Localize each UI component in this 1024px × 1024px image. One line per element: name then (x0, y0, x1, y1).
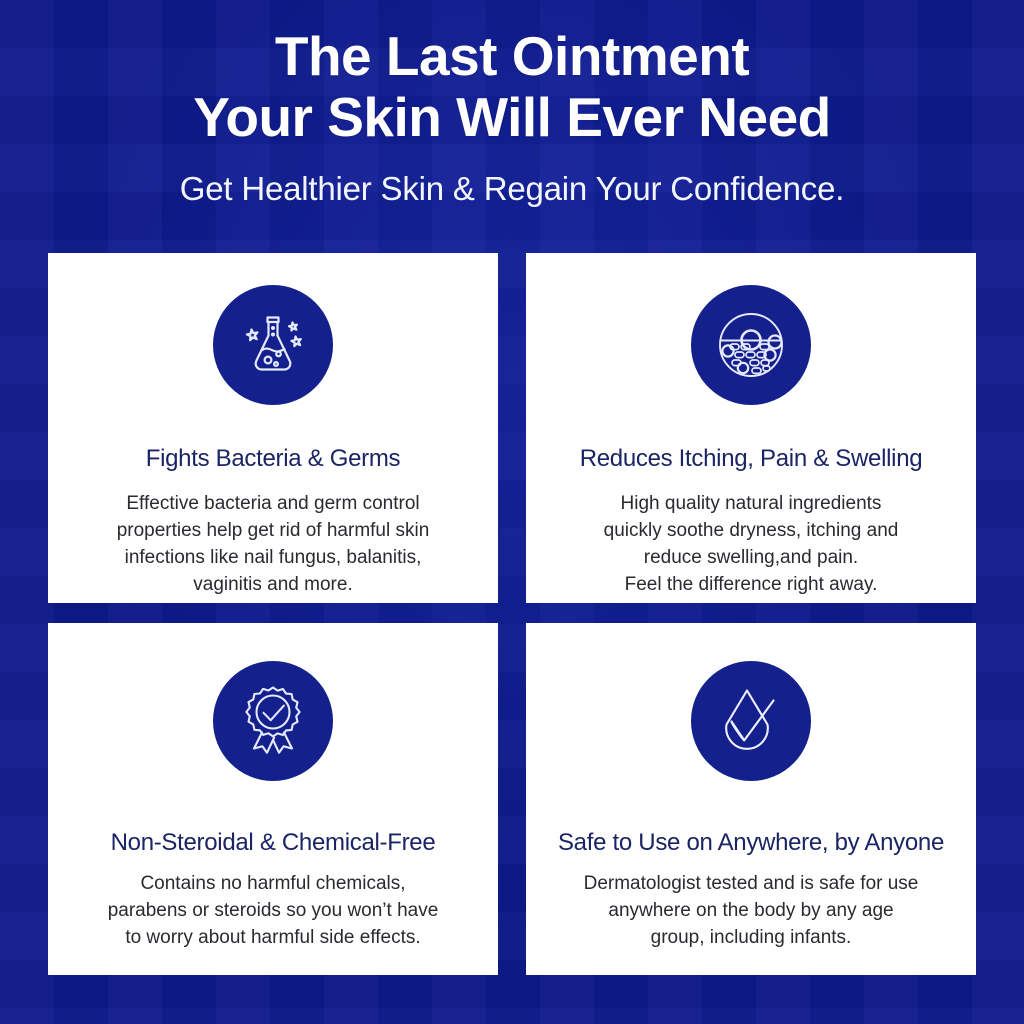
benefit-card-body: Dermatologist tested and is safe for use… (584, 871, 919, 952)
headline-line-2: Your Skin Will Ever Need (0, 87, 1024, 148)
benefit-card-body: High quality natural ingredients quickly… (604, 491, 899, 599)
benefit-card-title: Non-Steroidal & Chemical-Free (111, 829, 436, 858)
benefit-card-safe-to-use: Safe to Use on Anywhere, by Anyone Derma… (526, 623, 976, 975)
promo-page: The Last Ointment Your Skin Will Ever Ne… (0, 0, 1024, 1024)
benefit-card-body: Contains no harmful chemicals, parabens … (108, 871, 439, 952)
award-badge-check-icon (213, 661, 333, 781)
benefit-card-title: Fights Bacteria & Germs (146, 445, 401, 474)
flask-sparkle-icon (213, 285, 333, 405)
benefit-card-reduces-itching: Reduces Itching, Pain & Swelling High qu… (526, 253, 976, 603)
benefit-card-non-steroidal: Non-Steroidal & Chemical-Free Contains n… (48, 623, 498, 975)
headline-line-1: The Last Ointment (0, 26, 1024, 87)
benefit-card-title: Safe to Use on Anywhere, by Anyone (558, 829, 944, 858)
benefit-card-title: Reduces Itching, Pain & Swelling (580, 445, 923, 474)
droplet-check-icon (691, 661, 811, 781)
benefit-card-body: Effective bacteria and germ control prop… (117, 491, 430, 599)
skin-cells-icon (691, 285, 811, 405)
benefit-card-fights-bacteria: Fights Bacteria & Germs Effective bacter… (48, 253, 498, 603)
page-subtitle: Get Healthier Skin & Regain Your Confide… (0, 170, 1024, 208)
benefit-card-grid: Fights Bacteria & Germs Effective bacter… (48, 253, 976, 975)
page-title: The Last Ointment Your Skin Will Ever Ne… (0, 26, 1024, 148)
header: The Last Ointment Your Skin Will Ever Ne… (0, 26, 1024, 208)
